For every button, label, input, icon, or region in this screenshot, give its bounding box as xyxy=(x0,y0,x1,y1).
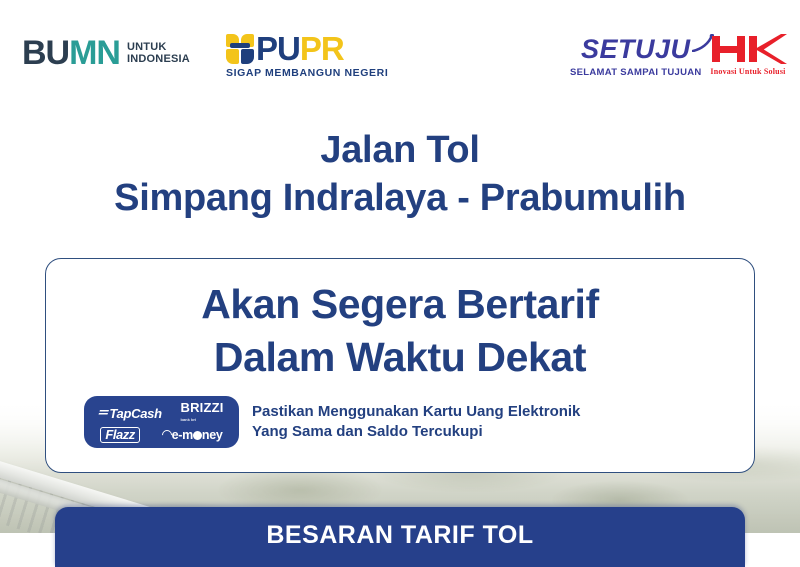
tariff-banner-label: BESARAN TARIF TOL xyxy=(55,507,745,550)
announcement-card: Akan Segera Bertarif Dalam Waktu Dekat T… xyxy=(45,258,755,473)
pupr-wordmark-secondary: PR xyxy=(300,30,344,67)
pupr-wordmark-row: PUPR xyxy=(226,32,388,65)
pupr-wordmark-primary: PU xyxy=(256,30,300,67)
emoney-logo-text: e-m xyxy=(172,428,193,442)
announcement-note-line1: Pastikan Menggunakan Kartu Uang Elektron… xyxy=(252,402,580,422)
flazz-logo: Flazz xyxy=(100,427,139,443)
pupr-logo: PUPR SIGAP MEMBANGUN NEGERI xyxy=(226,32,388,79)
page-title: Jalan Tol Simpang Indralaya - Prabumulih xyxy=(0,126,800,222)
hk-tagline: Inovasi Untuk Solusi xyxy=(709,67,787,76)
tapcash-logo: TapCash xyxy=(99,406,161,421)
setuju-tagline: SELAMAT SAMPAI TUJUAN xyxy=(570,67,702,78)
brizzi-logo-text: BRIZZI xyxy=(181,400,224,415)
emoney-logo: e-mney xyxy=(161,428,223,442)
brizzi-logo-sub: bank bri xyxy=(181,414,224,426)
page-title-line2: Simpang Indralaya - Prabumulih xyxy=(0,174,800,222)
pupr-tagline: SIGAP MEMBANGUN NEGERI xyxy=(226,67,388,79)
announcement-note-line2: Yang Sama dan Saldo Tercukupi xyxy=(252,422,580,442)
bumn-wordmark: BUMN xyxy=(22,36,120,70)
setuju-wordmark-text: SETUJU xyxy=(581,34,691,64)
emoney-card-badge: TapCash BRIZZIbank bri Flazz e-mney xyxy=(84,396,239,448)
logo-bar: BUMN UNTUK INDONESIA PUPR SIGAP MEMBANGU… xyxy=(0,0,800,104)
bumn-logo: BUMN UNTUK INDONESIA xyxy=(22,36,190,70)
pupr-wordmark: PUPR xyxy=(256,32,344,65)
bumn-wordmark-secondary: MN xyxy=(69,34,120,72)
announcement-note-text: Pastikan Menggunakan Kartu Uang Elektron… xyxy=(252,402,580,442)
hk-monogram-icon xyxy=(709,33,787,65)
pupr-emblem-icon xyxy=(226,34,254,64)
bumn-wordmark-primary: BU xyxy=(22,34,69,72)
emoney-logo-dot xyxy=(193,431,202,440)
announcement-heading-line2: Dalam Waktu Dekat xyxy=(46,331,754,384)
setuju-wordmark: SETUJU xyxy=(570,36,702,63)
bumn-tagline-line1: UNTUK xyxy=(127,41,190,53)
bumn-tagline: UNTUK INDONESIA xyxy=(127,41,190,65)
announcement-heading: Akan Segera Bertarif Dalam Waktu Dekat xyxy=(46,259,754,384)
hk-logo: Inovasi Untuk Solusi xyxy=(709,33,787,76)
setuju-logo: SETUJU SELAMAT SAMPAI TUJUAN xyxy=(570,36,702,78)
emoney-badge-row-top: TapCash BRIZZIbank bri xyxy=(90,402,233,426)
announcement-note: TapCash BRIZZIbank bri Flazz e-mney Past… xyxy=(46,396,754,448)
brizzi-logo: BRIZZIbank bri xyxy=(181,402,224,426)
tariff-banner: BESARAN TARIF TOL xyxy=(55,507,745,567)
emoney-badge-row-bottom: Flazz e-mney xyxy=(90,427,233,443)
emoney-logo-tail: ney xyxy=(202,428,223,442)
announcement-heading-line1: Akan Segera Bertarif xyxy=(46,278,754,331)
page-title-line1: Jalan Tol xyxy=(0,126,800,174)
bumn-tagline-line2: INDONESIA xyxy=(127,53,190,65)
